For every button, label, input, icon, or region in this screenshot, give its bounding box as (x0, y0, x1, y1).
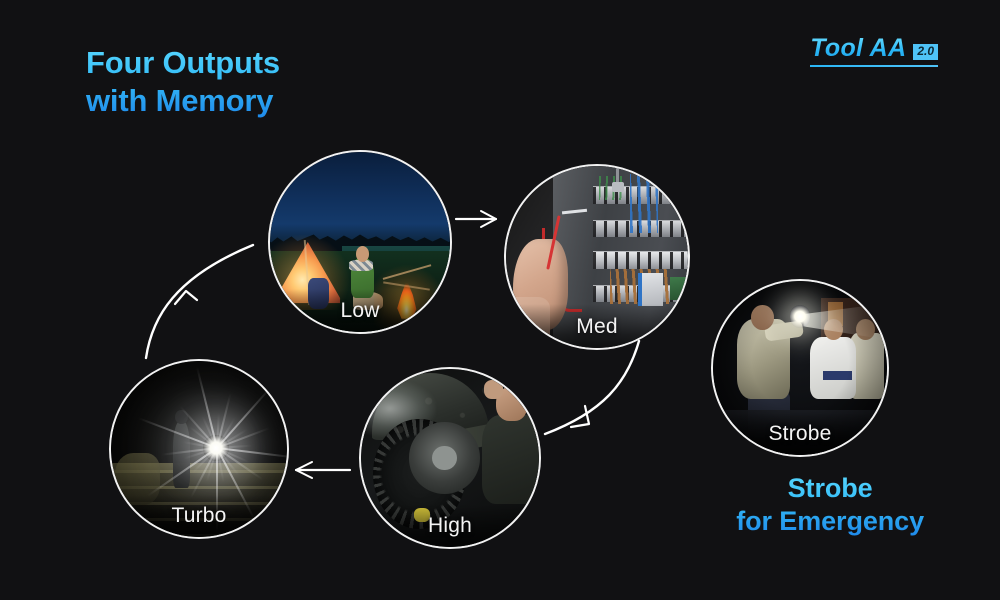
camper-head (356, 246, 370, 262)
wire-connector (612, 182, 625, 192)
brand-logo: Tool AA 2.0 (810, 36, 938, 63)
strobe-title-line-2: for Emergency (736, 505, 924, 538)
mode-circle-high[interactable]: High (359, 367, 541, 549)
arrow-med-to-high (545, 341, 639, 434)
mode-circle-med[interactable]: Med (504, 164, 690, 350)
page-title-line-2: with Memory (86, 82, 280, 120)
strobe-title: Strobe for Emergency (736, 472, 924, 538)
brand-name: Tool AA (810, 36, 906, 63)
breaker-rail-3 (593, 251, 688, 269)
brand-underline (810, 65, 938, 67)
page-title: Four Outputs with Memory (86, 44, 280, 120)
control-module (638, 273, 662, 306)
blue-wiring (630, 174, 658, 233)
green-module (670, 277, 688, 301)
mode-label-low: Low (270, 299, 450, 323)
breaker-teeth-3 (593, 252, 688, 269)
mode-circle-strobe[interactable]: Strobe (711, 279, 889, 457)
mode-circle-low[interactable]: Low (268, 150, 452, 334)
mode-label-strobe: Strobe (713, 422, 887, 446)
mode-label-med: Med (506, 315, 688, 339)
mode-label-high: High (361, 514, 539, 538)
infographic-canvas: Tool AA 2.0 Four Outputs with Memory Str… (0, 0, 1000, 600)
arrow-low-to-med (456, 211, 496, 227)
strobe-title-line-1: Strobe (736, 472, 924, 505)
brand-version-badge: 2.0 (913, 44, 938, 60)
arrow-high-to-turbo (296, 462, 350, 478)
page-title-line-1: Four Outputs (86, 44, 280, 82)
arrow-turbo-to-low (146, 245, 253, 358)
mode-label-turbo: Turbo (111, 504, 287, 528)
mode-circle-turbo[interactable]: Turbo (109, 359, 289, 539)
